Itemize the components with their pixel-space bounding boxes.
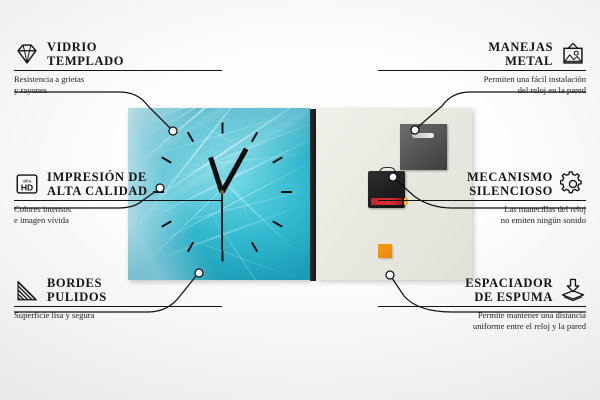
feature-divider (14, 70, 222, 71)
feature-description: Las manecillas del reloj no emiten ningú… (378, 204, 586, 227)
clock-tick (221, 123, 223, 134)
feature-description: Permiten una fácil instalación del reloj… (378, 74, 586, 97)
foam-spacer-icon (560, 277, 586, 303)
clock-tick (161, 156, 172, 163)
metal-hanging-bracket (400, 124, 447, 170)
feature-description: Colores intensos e imagen vívida (14, 204, 222, 227)
clock-tick (250, 242, 257, 253)
clock-tick (186, 242, 193, 253)
feature-title: BORDES PULIDOS (47, 276, 107, 304)
feature-impresion-alta-calidad: ultra HD IMPRESIÓN DE ALTA CALIDAD Color… (14, 170, 222, 226)
clock-tick (250, 131, 257, 142)
polished-edges-icon (14, 277, 40, 303)
feature-manejas-metal: MANEJAS METAL Permiten una fácil instala… (378, 40, 586, 96)
feature-title: MECANISMO SILENCIOSO (467, 170, 553, 198)
feature-divider (14, 306, 222, 307)
feature-header: VIDRIO TEMPLADO (14, 40, 222, 68)
feature-title: MANEJAS METAL (488, 40, 553, 68)
feature-title: ESPACIADOR DE ESPUMA (465, 276, 553, 304)
feature-mecanismo-silencioso: MECANISMO SILENCIOSO Las manecillas del … (378, 170, 586, 226)
feature-vidrio-templado: VIDRIO TEMPLADO Resistencia a grietas y … (14, 40, 222, 96)
feature-header: ultra HD IMPRESIÓN DE ALTA CALIDAD (14, 170, 222, 198)
picture-hanger-icon (560, 41, 586, 67)
feature-header: BORDES PULIDOS (14, 276, 222, 304)
feature-divider (378, 306, 586, 307)
clock-tick (272, 156, 283, 163)
svg-text:HD: HD (21, 183, 33, 193)
feature-divider (378, 70, 586, 71)
feature-header: ESPACIADOR DE ESPUMA (378, 276, 586, 304)
diamond-icon (14, 41, 40, 67)
feature-espaciador-espuma: ESPACIADOR DE ESPUMA Permite mantener un… (378, 276, 586, 332)
foam-spacer (378, 244, 392, 258)
feature-title: VIDRIO TEMPLADO (47, 40, 124, 68)
clock-minute-hand (220, 147, 249, 193)
feature-description: Resistencia a grietas y rayones (14, 74, 222, 97)
clock-tick (272, 220, 283, 227)
clock-tick (281, 191, 292, 193)
product-infographic: VIDRIO TEMPLADO Resistencia a grietas y … (0, 0, 600, 400)
clock-tick (186, 131, 193, 142)
feature-description: Permite mantener una distancia uniforme … (378, 310, 586, 333)
feature-description: Superficie lisa y segura (14, 310, 222, 321)
clock-tick (221, 251, 223, 262)
feature-header: MECANISMO SILENCIOSO (378, 170, 586, 198)
feature-title: IMPRESIÓN DE ALTA CALIDAD (47, 170, 148, 198)
feature-divider (378, 200, 586, 201)
feature-divider (14, 200, 222, 201)
feature-header: MANEJAS METAL (378, 40, 586, 68)
bracket-keyhole-slot (412, 133, 434, 138)
feature-bordes-pulidos: BORDES PULIDOS Superficie lisa y segura (14, 276, 222, 321)
ultra-hd-icon: ultra HD (14, 171, 40, 197)
gear-icon (560, 171, 586, 197)
